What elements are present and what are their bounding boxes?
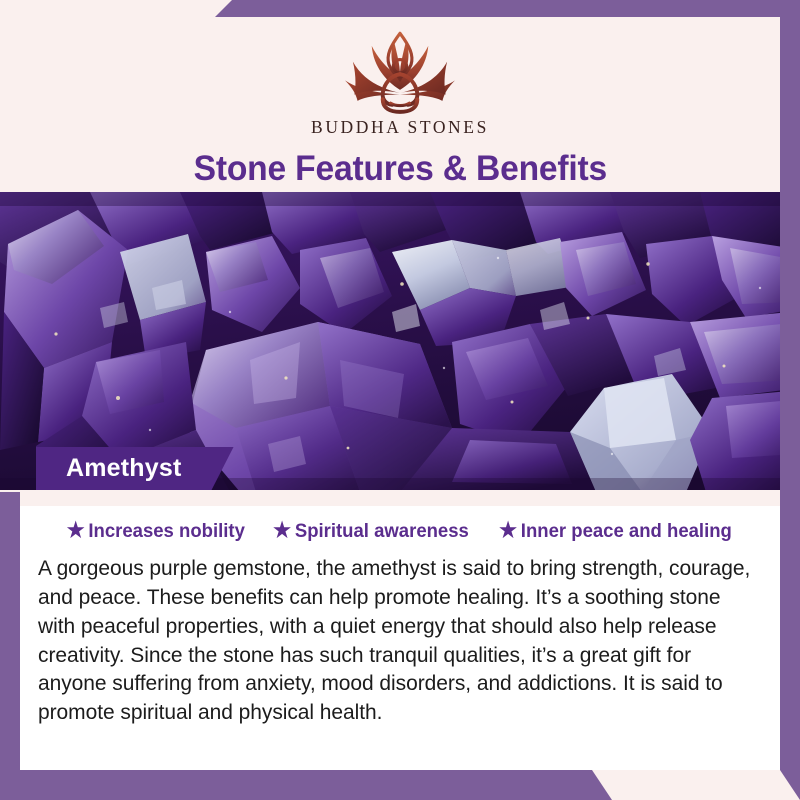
benefit-item-3: ★ Inner peace and healing (499, 520, 732, 543)
poster-header: BUDDHA STONES Stone Features & Benefits (0, 17, 800, 192)
stone-description: A gorgeous purple gemstone, the amethyst… (38, 554, 751, 727)
benefit-label-1: Increases nobility (88, 520, 244, 543)
frame-top-bar (0, 0, 800, 17)
benefit-label-2: Spiritual awareness (295, 520, 469, 543)
stone-info-poster: BUDDHA STONES Stone Features & Benefits (0, 0, 800, 800)
frame-right-bar (780, 0, 800, 800)
star-icon: ★ (66, 520, 84, 541)
frame-left-bar (0, 492, 20, 800)
benefit-label-3: Inner peace and healing (521, 520, 732, 543)
brand-name: BUDDHA STONES (311, 117, 489, 138)
benefit-item-2: ★ Spiritual awareness (273, 520, 469, 543)
stone-name-label: Amethyst (66, 454, 182, 483)
stone-name-banner: Amethyst (36, 447, 234, 490)
benefit-item-1: ★ Increases nobility (66, 520, 244, 543)
frame-bottom-bar (0, 770, 800, 800)
lotus-meditation-icon (320, 27, 480, 115)
star-icon: ★ (499, 520, 517, 541)
brand-logo: BUDDHA STONES (311, 27, 489, 138)
stone-details-panel: ★ Increases nobility ★ Spiritual awarene… (20, 506, 780, 770)
page-title: Stone Features & Benefits (193, 149, 606, 189)
hero-separator (0, 490, 800, 506)
star-icon: ★ (273, 520, 291, 541)
benefits-list: ★ Increases nobility ★ Spiritual awarene… (20, 512, 780, 545)
